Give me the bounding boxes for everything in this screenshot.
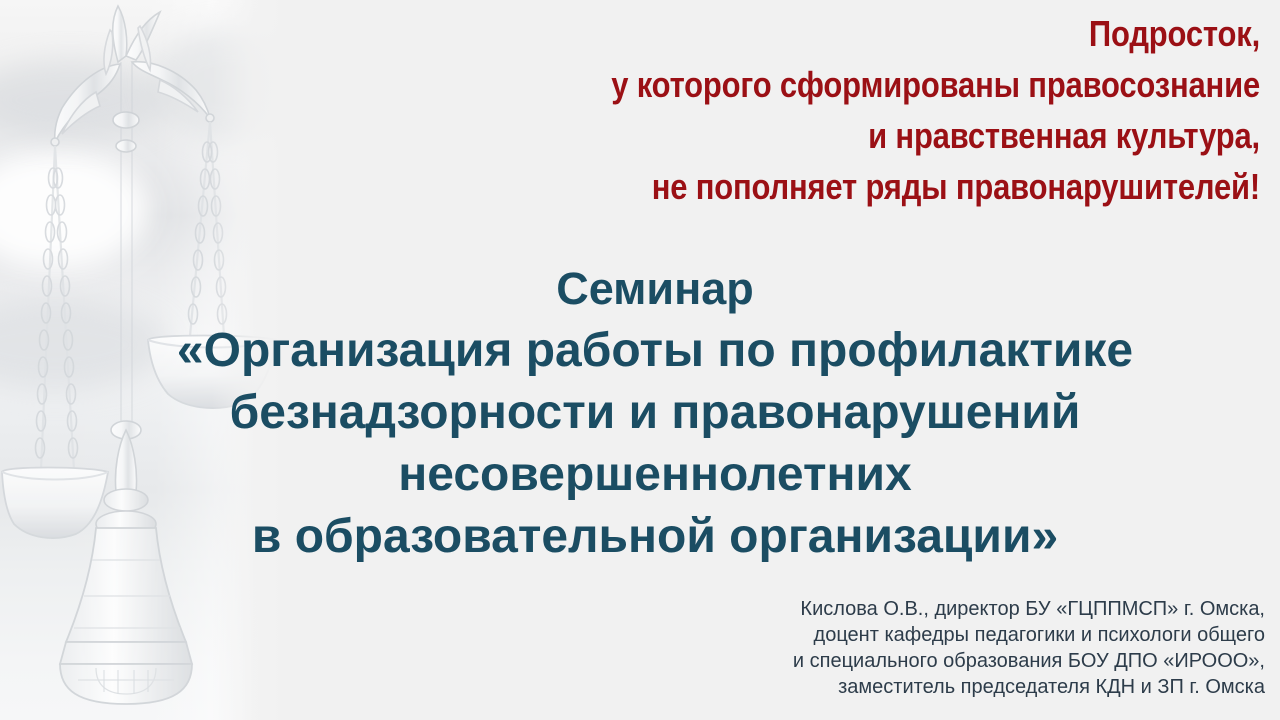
attribution-line-3: и специального образования БОУ ДПО «ИРОО… [600, 648, 1265, 674]
headline-line-4: не пополняет ряды правонарушителей! [460, 161, 1260, 212]
attribution-line-4: заместитель председателя КДН и ЗП г. Омс… [600, 674, 1265, 700]
headline-block: Подросток, у которого сформированы право… [460, 8, 1260, 212]
headline-line-1: Подросток, [460, 8, 1260, 59]
presentation-slide: Подросток, у которого сформированы право… [0, 0, 1280, 720]
title-line-2: безнадзорности и правонарушений [60, 382, 1250, 444]
author-attribution: Кислова О.В., директор БУ «ГЦППМСП» г. О… [600, 596, 1265, 700]
headline-line-2: у которого сформированы правосознание [460, 59, 1260, 110]
title-line-1: «Организация работы по профилактике [60, 320, 1250, 382]
attribution-line-2: доцент кафедры педагогики и психологи об… [600, 622, 1265, 648]
seminar-label: Семинар [60, 258, 1250, 320]
title-line-4: в образовательной организации» [60, 506, 1250, 568]
attribution-line-1: Кислова О.В., директор БУ «ГЦППМСП» г. О… [600, 596, 1265, 622]
seminar-title-block: Семинар «Организация работы по профилакт… [60, 258, 1250, 568]
headline-line-3: и нравственная культура, [460, 110, 1260, 161]
title-line-3: несовершеннолетних [60, 444, 1250, 506]
